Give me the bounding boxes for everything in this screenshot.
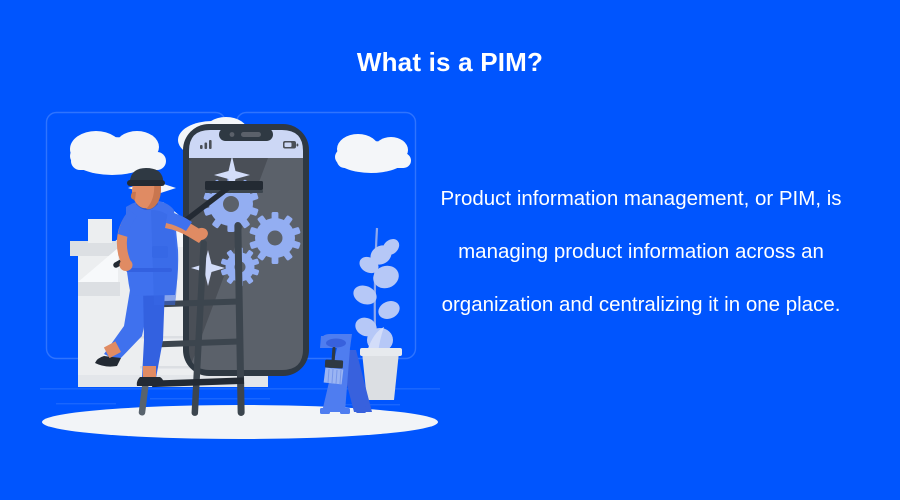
broom-head: [325, 360, 343, 369]
body-paragraph: Product information management, or PIM, …: [418, 172, 864, 331]
squeegee-blade: [205, 181, 263, 190]
cloud-right: [335, 134, 411, 173]
slide-canvas: What is a PIM? Product information manag…: [0, 0, 900, 500]
caution-sign: [320, 334, 372, 414]
plant-pot: [362, 352, 399, 400]
sign-handle: [326, 339, 346, 348]
page-title: What is a PIM?: [0, 47, 900, 78]
